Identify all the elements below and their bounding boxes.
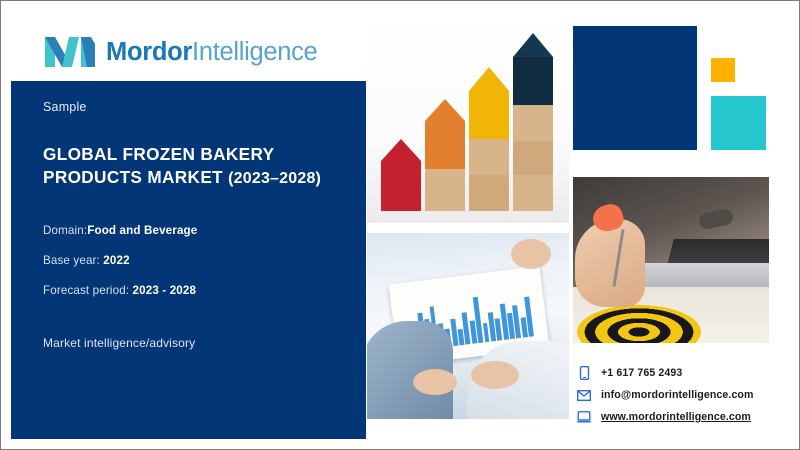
phone-icon (577, 366, 591, 380)
brand-name-bold: Mordor (106, 38, 192, 66)
wristwatch (698, 208, 735, 231)
report-cover-page: MordorIntelligence Sample GLOBAL FROZEN … (0, 0, 800, 450)
page-title: GLOBAL FROZEN BAKERY PRODUCTS MARKET (20… (43, 143, 351, 189)
wooden-block-growth-photo (367, 11, 569, 223)
advisory-tagline: Market intelligence/advisory (43, 336, 195, 350)
decor-amber-square (711, 58, 735, 82)
metadata-value-forecast-period: 2023 - 2028 (133, 284, 197, 297)
hand-pointing (511, 239, 551, 269)
metadata-row-domain: Domain:Food and Beverage (43, 224, 353, 237)
block-house-3 (469, 67, 509, 211)
contact-block: +1 617 765 2493 info@mordorintelligence.… (577, 363, 754, 429)
contact-row-website[interactable]: www.mordorintelligence.com (577, 407, 754, 427)
contact-row-phone[interactable]: +1 617 765 2493 (577, 363, 754, 383)
brand-name-light: Intelligence (192, 38, 317, 66)
hand-right (471, 361, 519, 389)
block-house-1 (381, 139, 421, 211)
metadata-row-base-year: Base year: 2022 (43, 254, 353, 267)
sample-badge: Sample (43, 100, 87, 114)
report-metadata: Domain:Food and Beverage Base year: 2022… (43, 224, 353, 314)
block-house-4 (513, 33, 553, 211)
website-icon (577, 410, 591, 424)
email-icon (577, 388, 591, 402)
mordor-m-logo-icon (45, 34, 95, 72)
decor-navy-square (573, 26, 697, 150)
decor-teal-square (711, 96, 766, 150)
metadata-value-domain: Food and Beverage (87, 224, 197, 237)
metadata-label-base-year: Base year: (43, 254, 100, 267)
page-title-years: (2023–2028) (228, 170, 321, 187)
report-info-panel: Sample GLOBAL FROZEN BAKERY PRODUCTS MAR… (11, 81, 366, 439)
block-house-2 (425, 99, 465, 211)
brand-wordmark: MordorIntelligence (106, 40, 317, 66)
metadata-row-forecast-period: Forecast period: 2023 - 2028 (43, 284, 353, 297)
metadata-value-base-year: 2022 (103, 254, 129, 267)
metadata-label-forecast-period: Forecast period: (43, 284, 129, 297)
business-meeting-chart-photo (367, 233, 569, 419)
contact-phone-text: +1 617 765 2493 (601, 367, 682, 379)
dart-target-photo (573, 177, 769, 343)
hand-left (413, 369, 457, 395)
metadata-label-domain: Domain: (43, 224, 87, 237)
contact-row-email[interactable]: info@mordorintelligence.com (577, 385, 754, 405)
hand-holding-dart (575, 219, 645, 307)
brand-logo[interactable]: MordorIntelligence (45, 34, 317, 72)
contact-website-text: www.mordorintelligence.com (601, 411, 751, 423)
contact-email-text: info@mordorintelligence.com (601, 389, 754, 401)
